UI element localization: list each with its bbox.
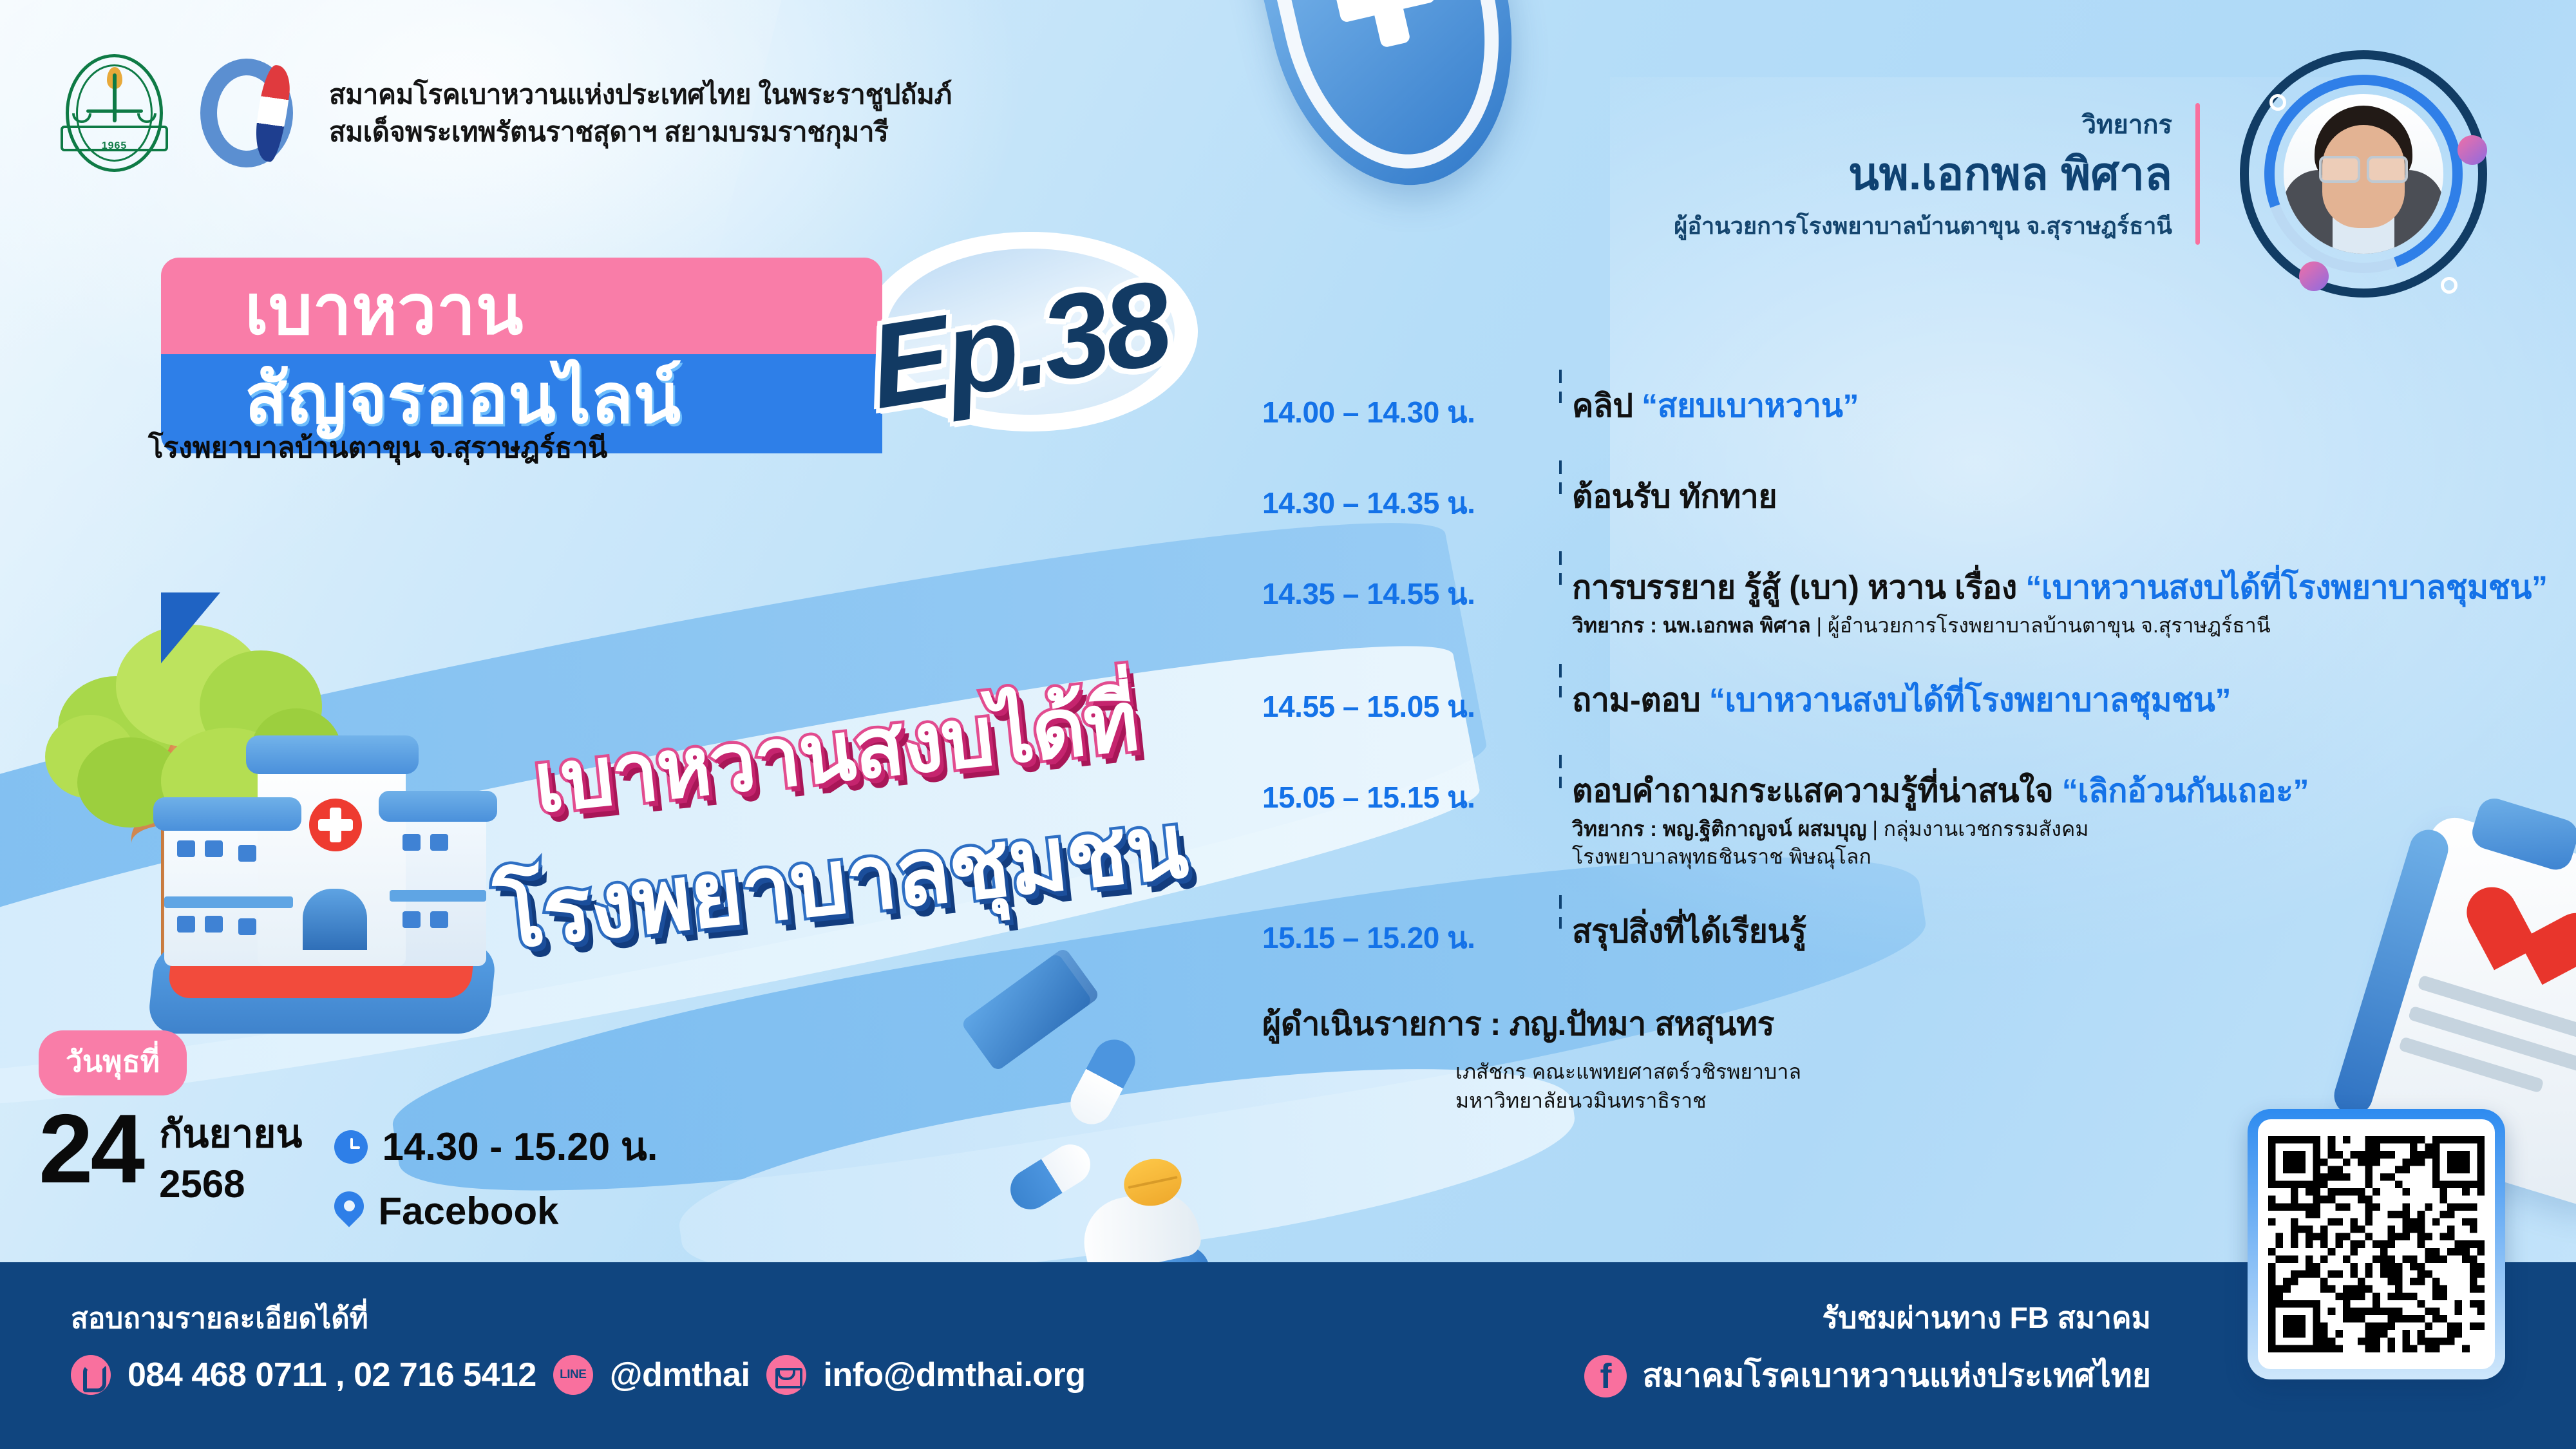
agenda-note-thin: | ผู้อำนวยการโรงพยาบาลบ้านตาขุน จ.สุราษฎ… <box>1817 614 2271 637</box>
decor-dot <box>2299 261 2329 291</box>
agenda-time: 15.05 – 15.15 น. <box>1262 772 1549 821</box>
agenda-body: ถาม-ตอบ “เบาหวานสงบได้ที่โรงพยาบาลชุมชน” <box>1572 681 2550 720</box>
day-of-week-badge: วันพุธที่ <box>39 1030 187 1095</box>
moderator-affiliation: เภสัชกร คณะแพทยศาสตร์วชิรพยาบาล มหาวิทยา… <box>1455 1057 2550 1116</box>
speaker-name: นพ.เอกพล พิศาล <box>1674 150 2172 198</box>
hospital-entrance <box>303 889 367 950</box>
event-time: 14.30 - 15.20 น. <box>382 1116 658 1177</box>
seal-year: 1965 <box>102 140 128 152</box>
agenda-title: ต้อนรับ ทักทาย <box>1572 477 2550 516</box>
window <box>238 918 256 935</box>
agenda-row: 14.55 – 15.05 น. ถาม-ตอบ “เบาหวานสงบได้ท… <box>1262 681 2550 730</box>
footer-bar: สอบถามรายละเอียดได้ที่ 084 468 0711 , 02… <box>0 1262 2576 1449</box>
facebook-row: f สมาคมโรคเบาหวานแห่งประเทศไทย <box>1584 1350 2151 1401</box>
window <box>238 845 256 862</box>
spacer <box>1262 527 2550 568</box>
agenda-title-plain: ถาม-ตอบ <box>1572 682 1709 718</box>
dmt-association-seal-logo: 1965 <box>58 50 171 176</box>
mail-icon <box>766 1355 806 1395</box>
spacer <box>1262 436 2550 477</box>
hospital-roof-right <box>379 791 497 822</box>
month-name: กันยายน <box>159 1113 302 1154</box>
association-name: สมาคมโรคเบาหวานแห่งประเทศไทย ในพระราชูปถ… <box>329 76 952 151</box>
agenda-title-highlight: “เบาหวานสงบได้ที่โรงพยาบาลชุมชน” <box>2025 569 2547 605</box>
dmt-circle-logo <box>189 53 305 173</box>
moderator-block: ผู้ดำเนินรายการ : ภญ.ปัทมา สหสุนทร เภสัช… <box>1262 999 2550 1116</box>
seal-balance-bar <box>86 109 143 113</box>
header: 1965 สมาคมโรคเบาหวานแห่งประเทศไทย ในพระร… <box>58 50 952 176</box>
time-and-place: 14.30 - 15.20 น. Facebook <box>334 1104 658 1245</box>
agenda-note: วิทยากร : นพ.เอกพล พิศาล | ผู้อำนวยการโร… <box>1572 612 2550 639</box>
hospital-roof-center <box>246 735 419 774</box>
agenda-title-plain: การบรรยาย รู้สู้ (เบา) หวาน เรื่อง <box>1572 569 2025 605</box>
platform-row: Facebook <box>334 1189 658 1233</box>
contact-heading: สอบถามรายละเอียดได้ที่ <box>71 1296 1086 1341</box>
agenda-time: 15.15 – 15.20 น. <box>1262 912 1549 961</box>
agenda-time: 14.35 – 14.55 น. <box>1262 568 1549 618</box>
window <box>402 911 421 928</box>
spacer <box>1262 871 2550 912</box>
line-icon: LINE <box>553 1355 593 1395</box>
window <box>430 911 448 928</box>
window <box>205 916 223 933</box>
contact-email[interactable]: info@dmthai.org <box>823 1356 1085 1394</box>
agenda-title: คลิป “สยบเบาหวาน” <box>1572 386 2550 426</box>
window <box>177 916 195 933</box>
speaker-card: วิทยากร นพ.เอกพล พิศาล ผู้อำนวยการโรงพยา… <box>1674 39 2499 309</box>
agenda-row: 15.15 – 15.20 น. สรุปสิ่งที่ได้เรียนรู้ <box>1262 912 2550 961</box>
year-value: 2568 <box>159 1163 302 1206</box>
speaker-affiliation: ผู้อำนวยการโรงพยาบาลบ้านตาขุน จ.สุราษฎร์… <box>1674 207 2172 244</box>
agenda-title: ถาม-ตอบ “เบาหวานสงบได้ที่โรงพยาบาลชุมชน” <box>1572 681 2550 720</box>
facebook-page-name[interactable]: สมาคมโรคเบาหวานแห่งประเทศไทย <box>1642 1350 2151 1401</box>
facade-stripe <box>390 890 486 902</box>
agenda-body: ต้อนรับ ทักทาย <box>1572 477 2550 516</box>
agenda-body: การบรรยาย รู้สู้ (เบา) หวาน เรื่อง “เบาห… <box>1572 568 2550 639</box>
agenda-body: สรุปสิ่งที่ได้เรียนรู้ <box>1572 912 2550 951</box>
agenda-title-plain: ตอบคำถามกระแสความรู้ที่น่าสนใจ <box>1572 773 2062 809</box>
date-row: 24 กันยายน 2568 14.30 - 15.20 น. Faceboo… <box>39 1104 658 1245</box>
agenda-note: วิทยากร : พญ.ฐิติกาญจน์ ผสมบุญ | กลุ่มงา… <box>1572 816 2550 843</box>
event-date-block: วันพุธที่ 24 กันยายน 2568 14.30 - 15.20 … <box>39 1030 658 1245</box>
agenda-row: 15.05 – 15.15 น. ตอบคำถามกระแสความรู้ที่… <box>1262 772 2550 871</box>
association-line-2: สมเด็จพระเทพรัตนราชสุดาฯ สยามบรมราชกุมาร… <box>329 113 952 151</box>
glasses-icon <box>2319 156 2408 179</box>
watch-heading: รับชมผ่านทาง FB สมาคม <box>1584 1294 2151 1341</box>
seal-staff <box>113 73 117 122</box>
decor-ring <box>2441 277 2458 294</box>
footer-contact: สอบถามรายละเอียดได้ที่ 084 468 0711 , 02… <box>71 1296 1086 1395</box>
moderator-name: ภญ.ปัทมา สหสุนทร <box>1510 1006 1774 1042</box>
agenda-time: 14.30 – 14.35 น. <box>1262 477 1549 527</box>
clock-icon <box>334 1130 368 1164</box>
agenda-note-bold: วิทยากร : พญ.ฐิติกาญจน์ ผสมบุญ <box>1572 817 1872 840</box>
agenda-title: สรุปสิ่งที่ได้เรียนรู้ <box>1572 912 2550 951</box>
location-pin-icon <box>334 1191 364 1231</box>
qr-code-image <box>2268 1130 2485 1359</box>
agenda-title-plain: คลิป <box>1572 388 1642 424</box>
decor-ring <box>2269 94 2286 111</box>
agenda-title-plain: ต้อนรับ ทักทาย <box>1572 478 1777 515</box>
spacer <box>1262 730 2550 772</box>
agenda-time: 14.55 – 15.05 น. <box>1262 681 1549 730</box>
speaker-info: วิทยากร นพ.เอกพล พิศาล ผู้อำนวยการโรงพยา… <box>1674 104 2195 243</box>
moderator-line: ผู้ดำเนินรายการ : ภญ.ปัทมา สหสุนทร <box>1262 999 2550 1050</box>
poster-root: 1965 สมาคมโรคเบาหวานแห่งประเทศไทย ในพระร… <box>0 0 2576 1449</box>
qr-code-card[interactable] <box>2248 1109 2505 1379</box>
title-line-1: เบาหวาน <box>161 258 882 354</box>
moderator-affiliation-line-1: เภสัชกร คณะแพทยศาสตร์วชิรพยาบาล <box>1455 1057 2550 1086</box>
contact-line-id[interactable]: @dmthai <box>610 1356 750 1394</box>
agenda-list: 14.00 – 14.30 น. คลิป “สยบเบาหวาน” 14.30… <box>1262 386 2550 1116</box>
agenda-title: การบรรยาย รู้สู้ (เบา) หวาน เรื่อง “เบาห… <box>1572 568 2550 607</box>
agenda-row: 14.35 – 14.55 น. การบรรยาย รู้สู้ (เบา) … <box>1262 568 2550 639</box>
facebook-icon[interactable]: f <box>1584 1355 1627 1397</box>
agenda-note-thin: | กลุ่มงานเวชกรรมสังคม <box>1872 817 2088 840</box>
contact-row: 084 468 0711 , 02 716 5412 LINE @dmthai … <box>71 1355 1086 1395</box>
title-banner: เบาหวาน สัญจรออนไลน์ Ep.38 <box>161 258 882 453</box>
agenda-row: 14.30 – 14.35 น. ต้อนรับ ทักทาย <box>1262 477 2550 527</box>
qr-code-inner <box>2258 1119 2495 1369</box>
association-line-1: สมาคมโรคเบาหวานแห่งประเทศไทย ในพระราชูปถ… <box>329 76 952 113</box>
banner-tail <box>161 592 220 663</box>
agenda-note-line2: โรงพยาบาลพุทธชินราช พิษณุโลก <box>1572 844 2550 871</box>
time-row: 14.30 - 15.20 น. <box>334 1116 658 1177</box>
agenda-title-highlight: “เบาหวานสงบได้ที่โรงพยาบาลชุมชน” <box>1709 682 2231 718</box>
phone-icon <box>71 1355 111 1395</box>
center-headline: เบาหวานสงบได้ที่ โรงพยาบาลชุมชน <box>496 718 1189 989</box>
agenda-title-highlight: “สยบเบาหวาน” <box>1642 388 1859 424</box>
speaker-role-label: วิทยากร <box>1674 104 2172 145</box>
capsule-icon <box>1063 1032 1142 1132</box>
agenda-title: ตอบคำถามกระแสความรู้ที่น่าสนใจ “เลิกอ้วน… <box>1572 772 2550 811</box>
agenda-time: 14.00 – 14.30 น. <box>1262 386 1549 436</box>
shield-icon <box>1244 0 1544 210</box>
facade-stripe <box>164 896 293 908</box>
agenda-body: คลิป “สยบเบาหวาน” <box>1572 386 2550 426</box>
decor-dot <box>2458 135 2487 165</box>
moderator-label: ผู้ดำเนินรายการ : <box>1262 1006 1510 1042</box>
agenda-title-highlight: “เลิกอ้วนกันเถอะ” <box>2062 773 2309 809</box>
event-platform: Facebook <box>378 1189 558 1233</box>
hospital-roof-left <box>153 797 301 831</box>
speaker-divider <box>2195 103 2200 245</box>
window <box>205 840 223 857</box>
month-year: กันยายน 2568 <box>159 1104 302 1206</box>
spacer <box>1262 639 2550 681</box>
footer-watch: รับชมผ่านทาง FB สมาคม f สมาคมโรคเบาหวานแ… <box>1584 1294 2151 1401</box>
speaker-avatar <box>2228 39 2499 309</box>
day-number: 24 <box>39 1104 142 1195</box>
agenda-note-bold: วิทยากร : นพ.เอกพล พิศาล <box>1572 614 1817 637</box>
title-hospital-subtitle: โรงพยาบาลบ้านตาขุน จ.สุราษฎร์ธานี <box>148 425 607 470</box>
contact-phone[interactable]: 084 468 0711 , 02 716 5412 <box>128 1356 536 1394</box>
agenda-body: ตอบคำถามกระแสความรู้ที่น่าสนใจ “เลิกอ้วน… <box>1572 772 2550 871</box>
agenda-row: 14.00 – 14.30 น. คลิป “สยบเบาหวาน” <box>1262 386 2550 436</box>
medical-cross-icon <box>309 799 362 851</box>
window <box>402 834 421 851</box>
hospital-illustration <box>39 618 567 1043</box>
window <box>177 840 195 857</box>
window <box>430 834 448 851</box>
speaker-photo <box>2284 94 2443 254</box>
